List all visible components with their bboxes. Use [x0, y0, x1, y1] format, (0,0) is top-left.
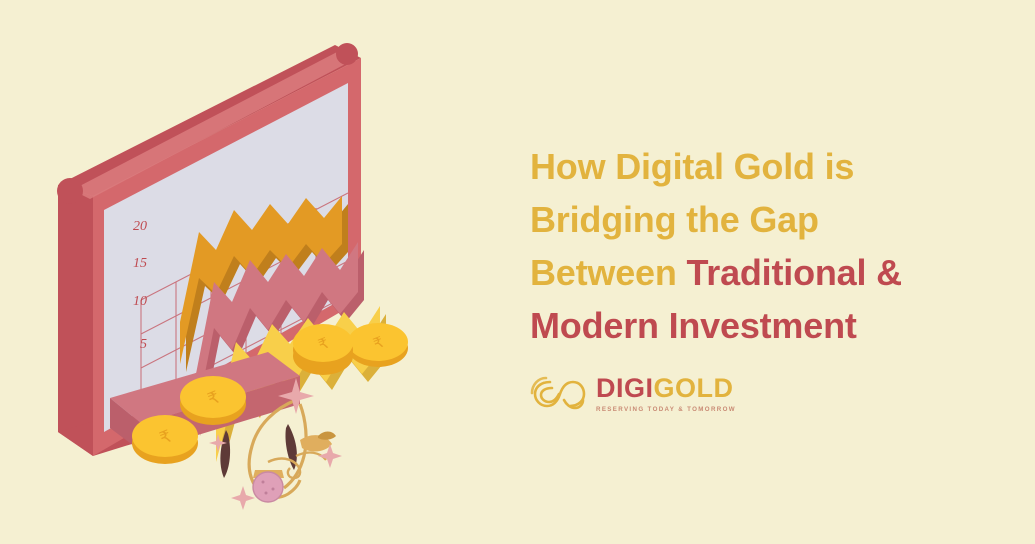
isometric-monitor-gold-investment-illustration: 20 15 10 5 [0, 0, 520, 544]
axis-label-5: 5 [140, 337, 147, 352]
infinity-loop-icon [530, 372, 586, 416]
digigold-logo[interactable]: DIGIGOLD RESERVING TODAY & TOMORROW [530, 372, 736, 416]
headline-line-1: How Digital Gold is [530, 140, 1000, 193]
logo-word-gold: GOLD [654, 373, 734, 403]
promotional-banner: 20 15 10 5 [0, 0, 1035, 544]
logo-word-digi: DIGI [596, 373, 654, 403]
axis-label-15: 15 [133, 256, 147, 271]
axis-label-20: 20 [133, 219, 147, 234]
headline-line-3-gold: Between [530, 252, 686, 293]
axis-label-10: 10 [133, 294, 147, 309]
page-title: How Digital Gold is Bridging the Gap Bet… [530, 140, 1000, 352]
headline-line-2: Bridging the Gap [530, 193, 1000, 246]
headline-line-3-red: Traditional & [686, 252, 901, 293]
logo-wordmark: DIGIGOLD [596, 375, 736, 402]
content-column: How Digital Gold is Bridging the Gap Bet… [528, 0, 1028, 544]
headline-line-4: Modern Investment [530, 299, 1000, 352]
logo-text-block: DIGIGOLD RESERVING TODAY & TOMORROW [596, 375, 736, 414]
logo-tagline: RESERVING TODAY & TOMORROW [596, 406, 736, 414]
headline-line-3: Between Traditional & [530, 246, 1000, 299]
